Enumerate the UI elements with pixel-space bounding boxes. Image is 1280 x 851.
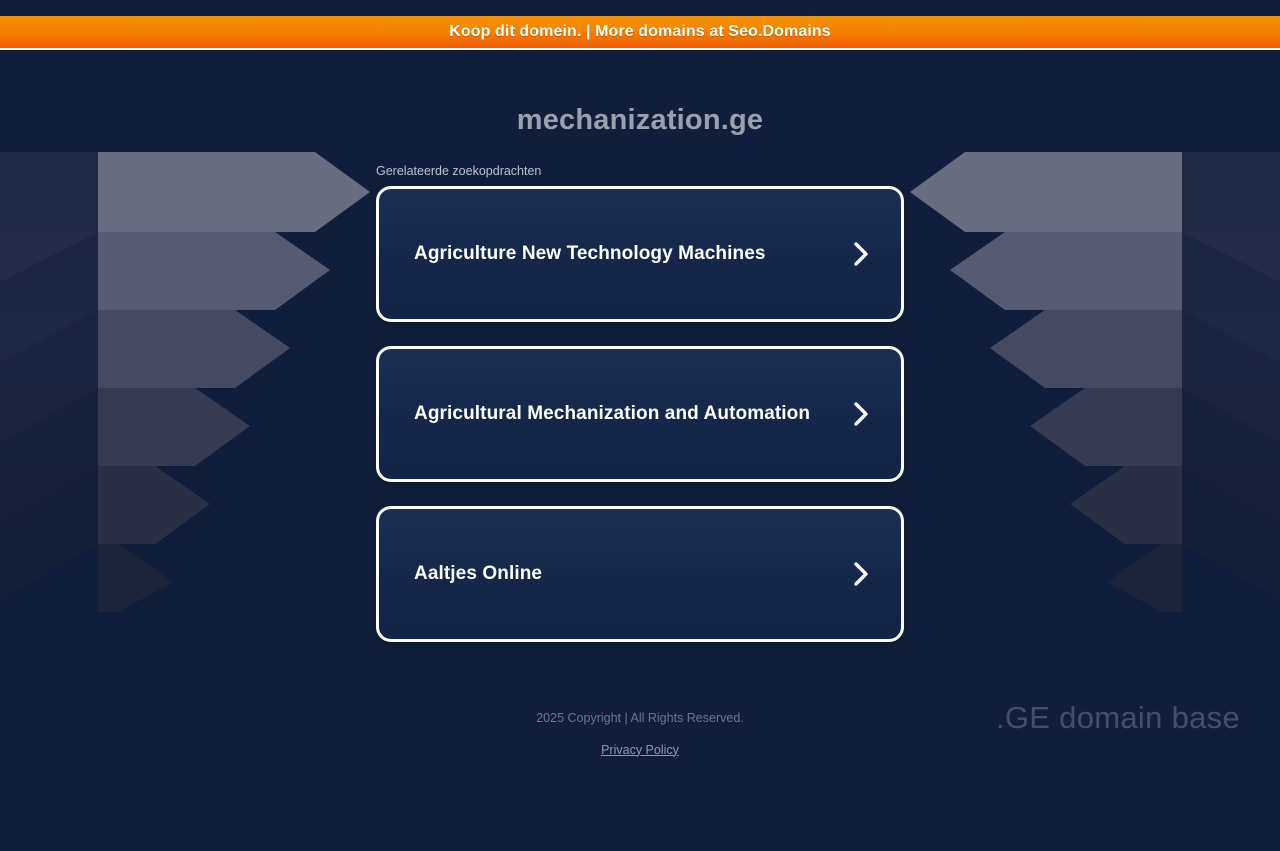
chevron-right-icon xyxy=(851,400,873,428)
promo-banner-text: Koop dit domein. | More domains at Seo.D… xyxy=(449,24,831,40)
related-search-label: Agricultural Mechanization and Automatio… xyxy=(414,403,810,425)
related-search-card[interactable]: Agricultural Mechanization and Automatio… xyxy=(376,346,904,482)
related-searches-label: Gerelateerde zoekopdrachten xyxy=(376,164,541,178)
domain-parking-page: Koop dit domein. | More domains at Seo.D… xyxy=(0,0,1280,851)
related-searches-list: Agriculture New Technology Machines Agri… xyxy=(376,186,904,666)
top-strip xyxy=(0,0,1280,16)
chevron-right-icon xyxy=(851,240,873,268)
related-search-card[interactable]: Aaltjes Online xyxy=(376,506,904,642)
copyright-text: 2025 Copyright | All Rights Reserved. xyxy=(0,712,1280,725)
main-content: mechanization.ge Gerelateerde zoekopdrac… xyxy=(0,52,1280,851)
footer: 2025 Copyright | All Rights Reserved. Pr… xyxy=(0,712,1280,759)
chevron-right-icon xyxy=(851,560,873,588)
related-search-label: Agriculture New Technology Machines xyxy=(414,243,766,265)
promo-banner[interactable]: Koop dit domein. | More domains at Seo.D… xyxy=(0,16,1280,50)
page-title: mechanization.ge xyxy=(0,104,1280,137)
related-search-label: Aaltjes Online xyxy=(414,563,542,585)
related-search-card[interactable]: Agriculture New Technology Machines xyxy=(376,186,904,322)
privacy-policy-link[interactable]: Privacy Policy xyxy=(601,743,679,757)
